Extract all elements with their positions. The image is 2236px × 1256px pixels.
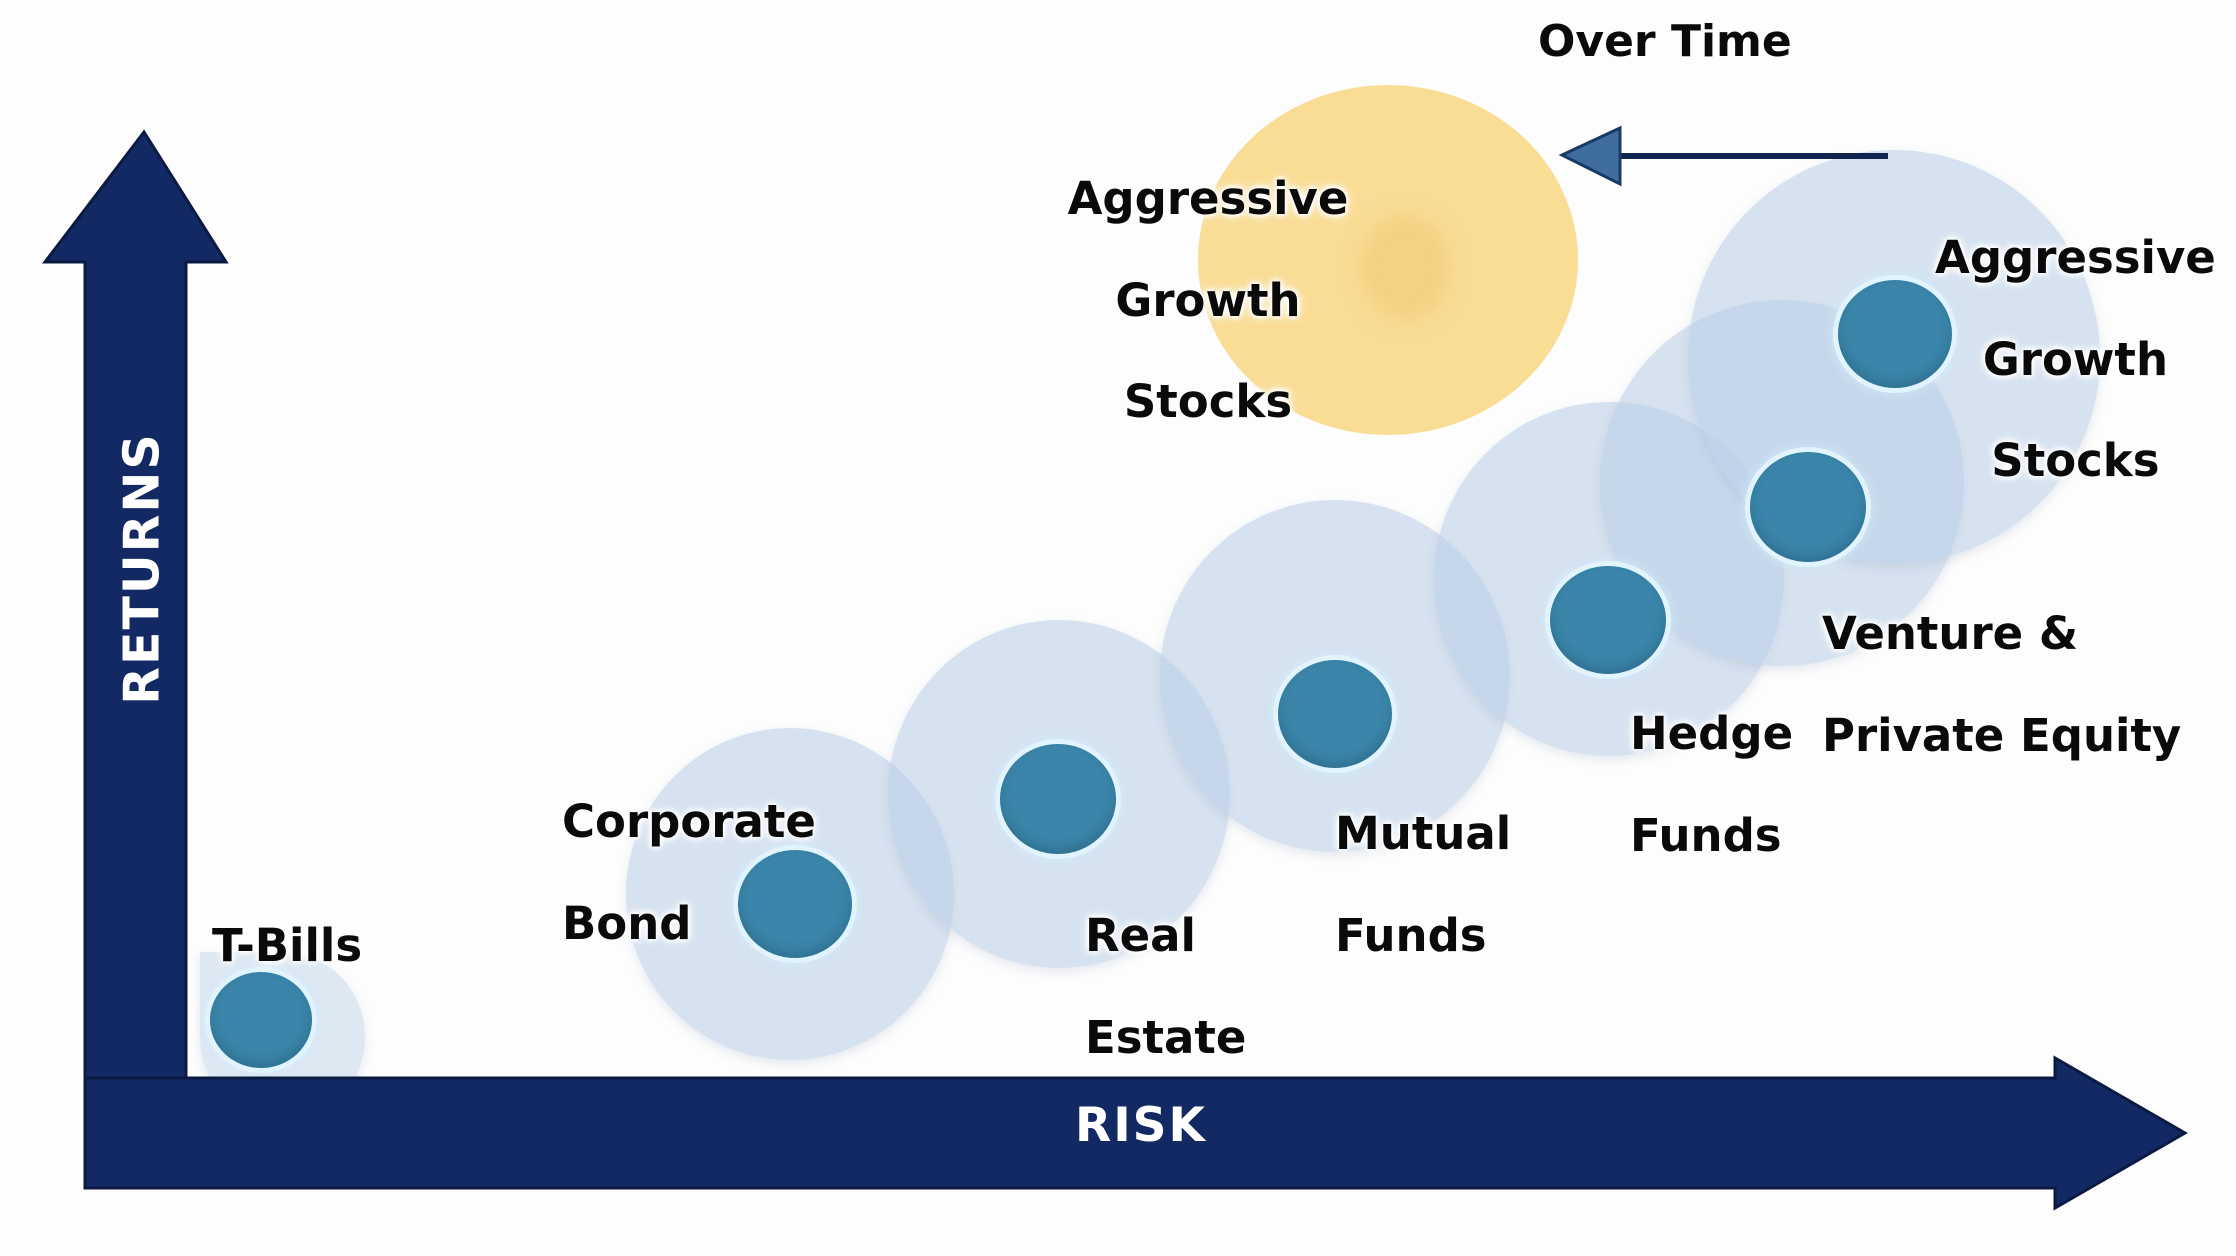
- bubble-label-real-estate-line2: Estate: [1085, 1013, 1246, 1064]
- bubble-label-aggressive-growth-stocks-line1: Aggressive: [1935, 233, 2216, 284]
- over-time-arrow-head: [1562, 128, 1620, 184]
- bubble-label-aggressive-growth-stocks: Aggressive Growth Stocks: [1935, 182, 2216, 538]
- callout-label-line3: Stocks: [1058, 377, 1358, 428]
- bubble-label-corporate-bond-line2: Bond: [562, 899, 816, 950]
- bubble-label-corporate-bond-line1: Corporate: [562, 797, 816, 848]
- bubble-label-hedge-funds-line1: Hedge: [1630, 709, 1793, 760]
- bubble-label-real-estate: Real Estate: [1085, 860, 1246, 1114]
- y-axis-label: RETURNS: [114, 419, 171, 719]
- aggressive-growth-callout-core: [1360, 215, 1450, 320]
- bubble-label-real-estate-line1: Real: [1085, 911, 1246, 962]
- bubble-label-aggressive-growth-stocks-line2: Growth: [1935, 335, 2216, 386]
- over-time-label: Over Time: [1538, 16, 1792, 67]
- bubble-label-t-bills-line1: T-Bills: [212, 919, 362, 972]
- bubble-label-corporate-bond: Corporate Bond: [562, 746, 816, 1000]
- bubble-dot-mutual-funds[interactable]: [1278, 660, 1392, 768]
- bubble-dot-real-estate[interactable]: [1000, 744, 1116, 854]
- bubble-dot-venture-private-equity[interactable]: [1750, 452, 1866, 562]
- bubble-label-mutual-funds: Mutual Funds: [1335, 758, 1511, 1012]
- callout-label-aggressive-growth-stocks: Aggressive Growth Stocks: [1058, 123, 1358, 479]
- bubble-dot-t-bills[interactable]: [210, 972, 312, 1068]
- risk-return-diagram: RETURNS RISK T-Bills Corporate Bond Real…: [0, 0, 2236, 1256]
- bubble-label-venture-private-equity: Venture & Private Equity: [1822, 558, 2181, 812]
- callout-label-line2: Growth: [1058, 276, 1358, 327]
- callout-label-line1: Aggressive: [1058, 174, 1358, 225]
- bubble-label-aggressive-growth-stocks-line3: Stocks: [1935, 436, 2216, 487]
- bubble-label-t-bills: T-Bills: [212, 870, 362, 972]
- bubble-label-mutual-funds-line1: Mutual: [1335, 809, 1511, 860]
- bubble-label-hedge-funds: Hedge Funds: [1630, 658, 1793, 912]
- bubble-label-mutual-funds-line2: Funds: [1335, 911, 1511, 962]
- bubble-label-venture-private-equity-line2: Private Equity: [1822, 711, 2181, 762]
- bubble-label-hedge-funds-line2: Funds: [1630, 811, 1793, 862]
- bubble-label-venture-private-equity-line1: Venture &: [1822, 609, 2181, 660]
